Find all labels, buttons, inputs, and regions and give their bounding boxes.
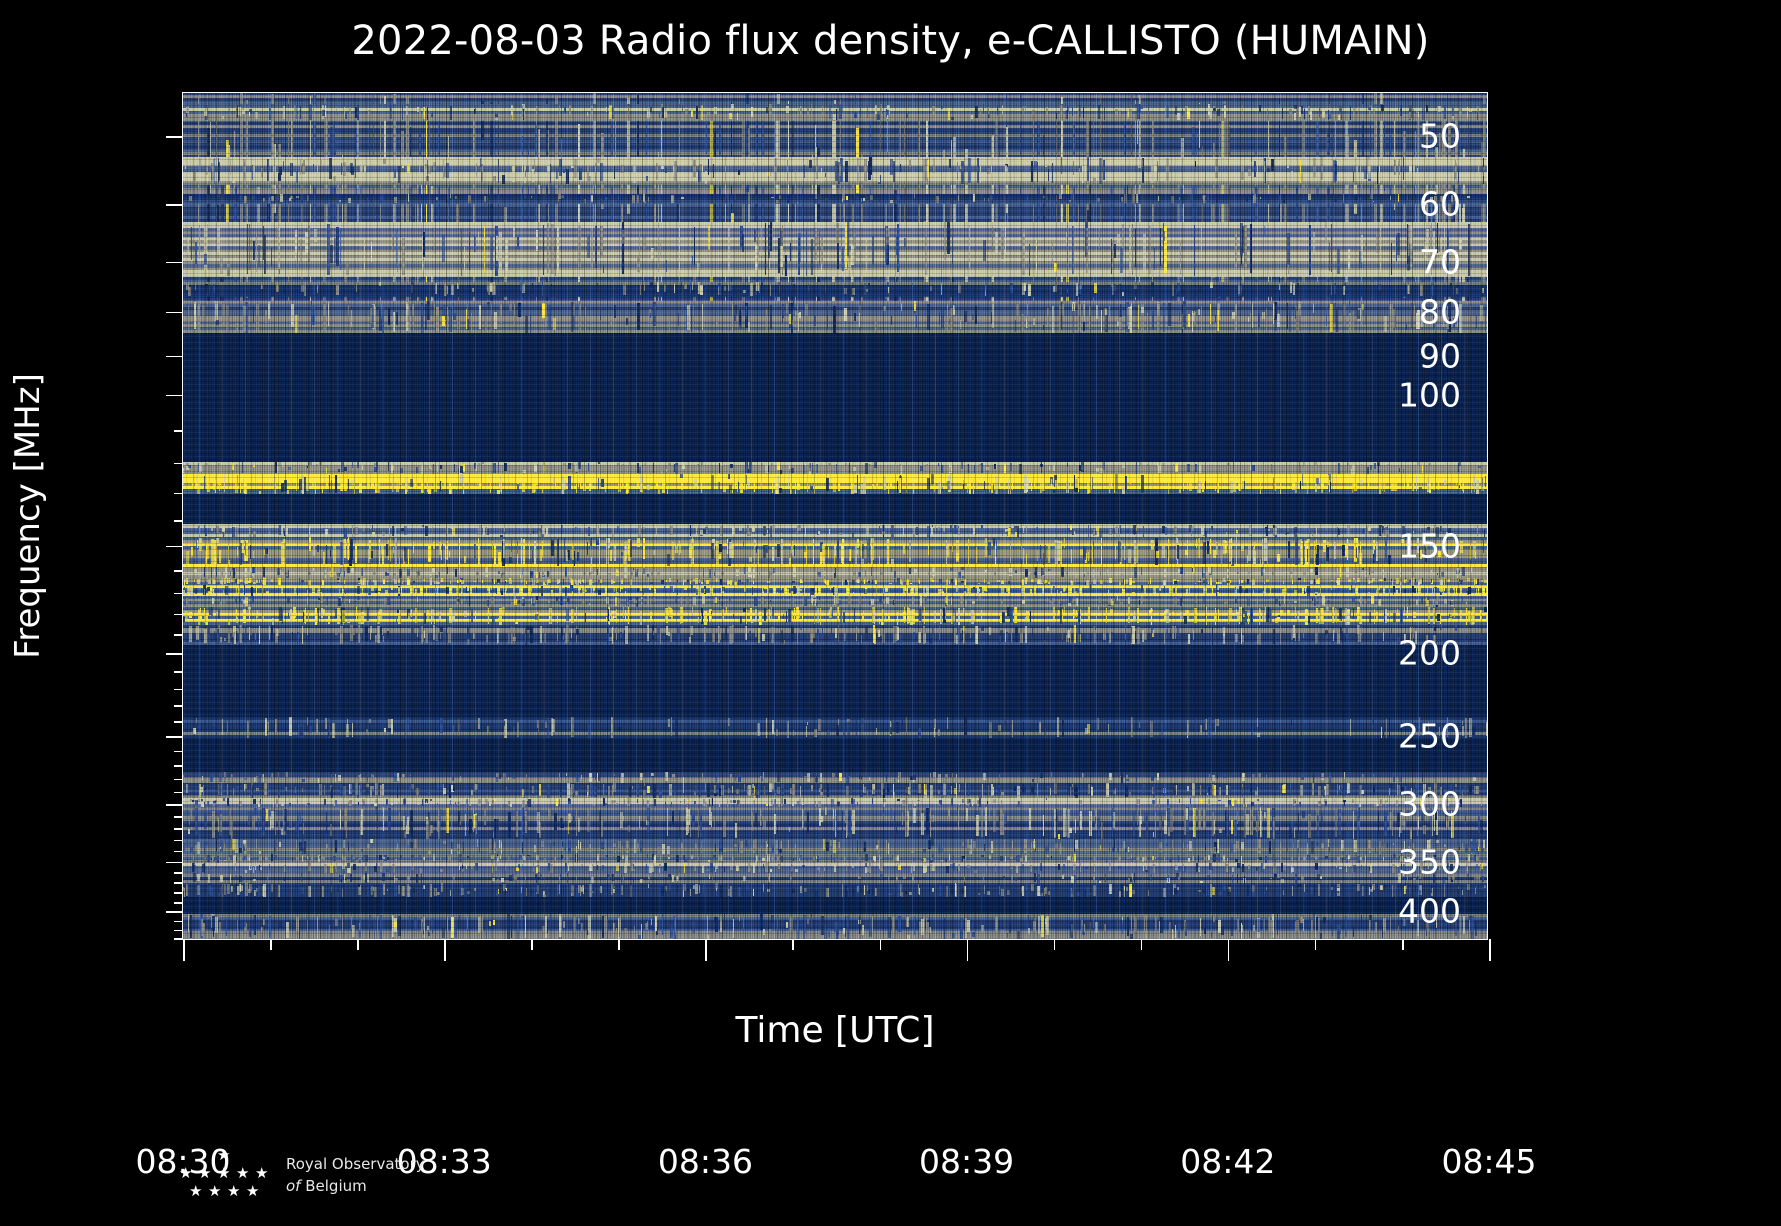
figure-canvas: 2022-08-03 Radio flux density, e-CALLIST…	[0, 0, 1781, 1226]
spectrogram-heatmap	[182, 92, 1488, 940]
page-title: 2022-08-03 Radio flux density, e-CALLIST…	[0, 18, 1781, 64]
